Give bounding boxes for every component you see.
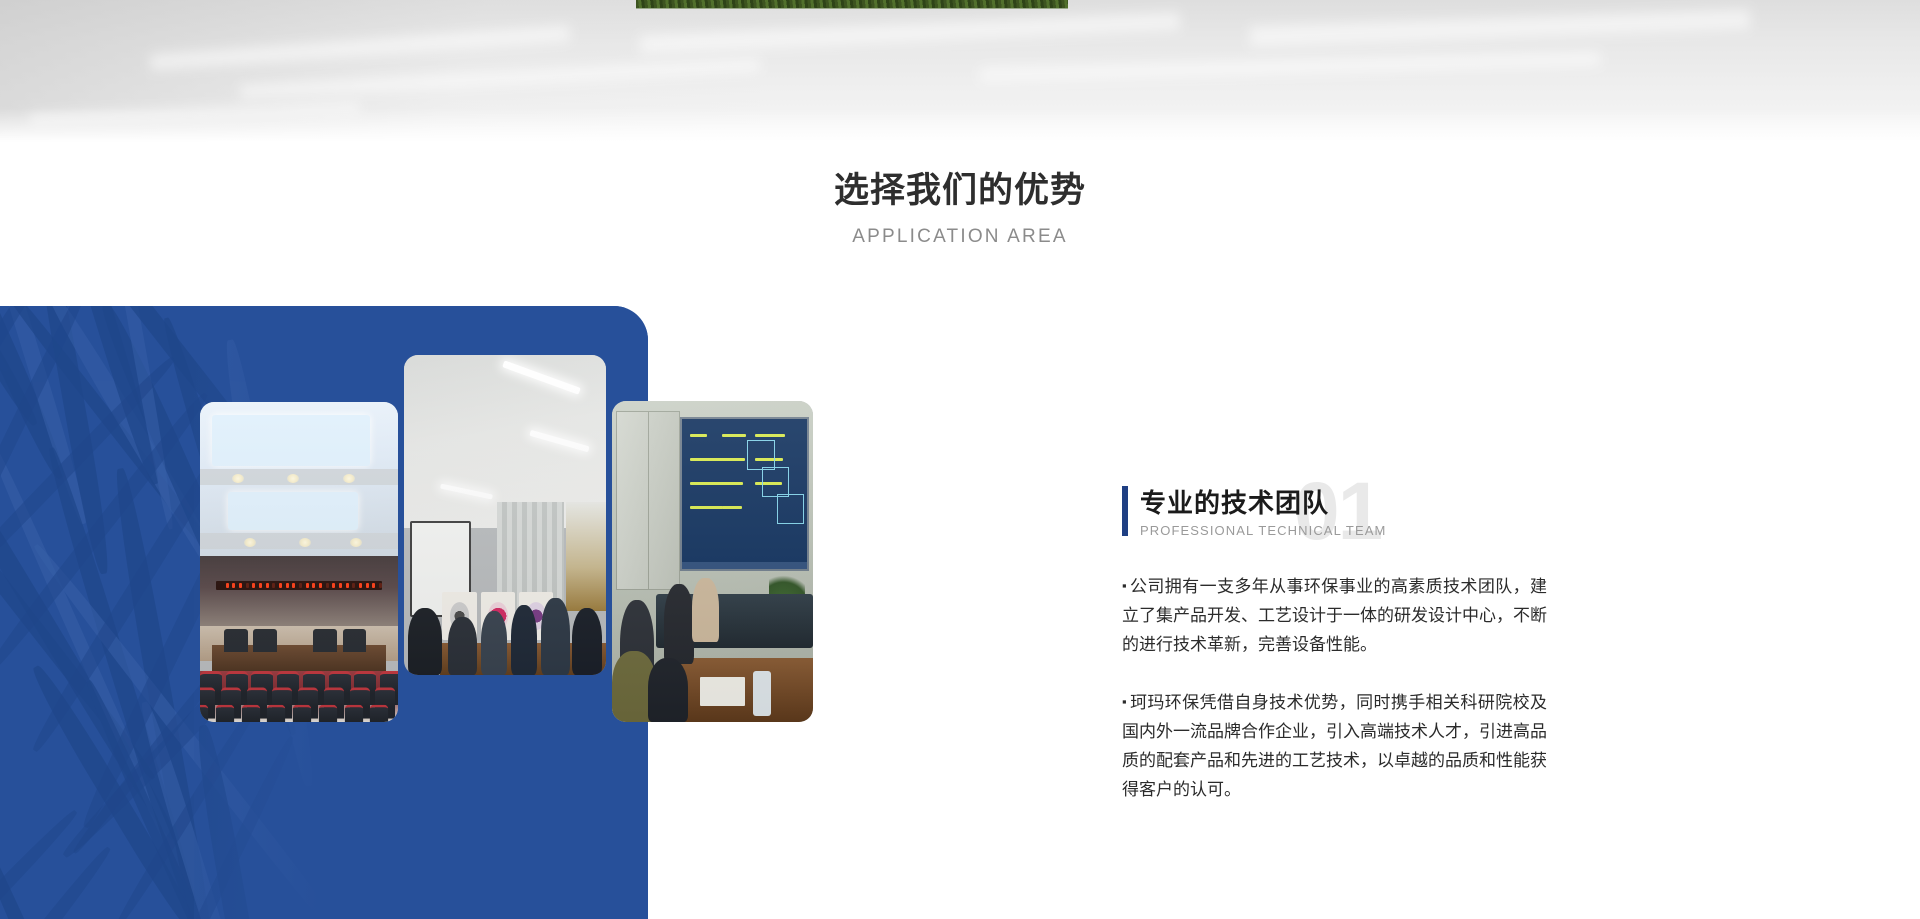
banner-bottom-fade [0,108,1920,142]
photo-shade [200,402,398,722]
banner-streak [980,52,1600,82]
feature-paragraph-1: ▪公司拥有一支多年从事环保事业的高素质技术团队，建立了集产品开发、工艺设计于一体… [1122,571,1547,659]
bullet-marker: ▪ [1122,694,1127,709]
photo-shade [612,401,813,722]
top-hero-strip [0,0,1920,142]
photo-training-projector[interactable] [612,401,813,722]
page-title: 选择我们的优势 [0,170,1920,212]
photo-meeting-room[interactable] [404,355,606,675]
photo-auditorium[interactable] [200,402,398,722]
page-root: 选择我们的优势 APPLICATION AREA [0,0,1920,919]
feature-block: 01 专业的技术团队 PROFESSIONAL TECHNICAL TEAM ▪… [1122,483,1682,804]
feature-paragraph-2: ▪珂玛环保凭借自身技术优势，同时携手相关科研院校及国内外一流品牌合作企业，引入高… [1122,687,1547,804]
bullet-marker: ▪ [1122,578,1127,593]
banner-grass-edge [636,0,1068,9]
feature-paragraph-1-text: 公司拥有一支多年从事环保事业的高素质技术团队，建立了集产品开发、工艺设计于一体的… [1122,577,1547,654]
accent-bar [1122,486,1128,536]
feature-paragraph-2-text: 珂玛环保凭借自身技术优势，同时携手相关科研院校及国内外一流品牌合作企业，引入高端… [1122,693,1547,799]
feature-heading-row: 01 专业的技术团队 PROFESSIONAL TECHNICAL TEAM [1122,483,1682,555]
page-subtitle: APPLICATION AREA [0,226,1920,248]
feature-heading-cn: 专业的技术团队 [1140,483,1329,520]
banner-streak [1250,9,1750,46]
feature-heading-en: PROFESSIONAL TECHNICAL TEAM [1140,523,1386,538]
photo-shade [404,355,606,675]
section-header: 选择我们的优势 APPLICATION AREA [0,170,1920,248]
